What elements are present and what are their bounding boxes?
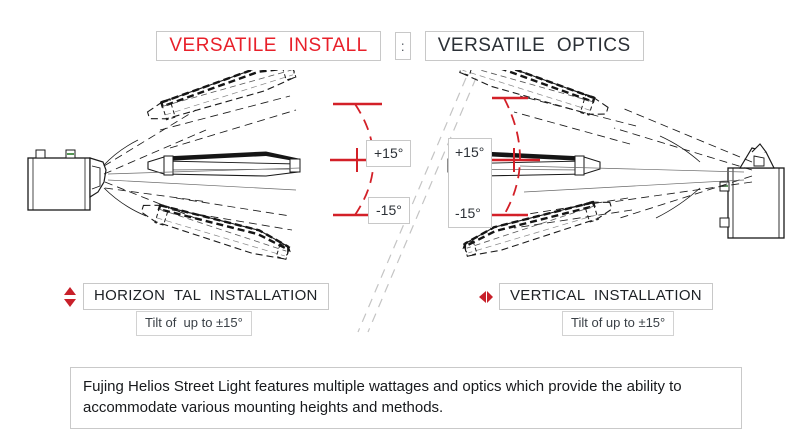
- title-versatile-optics: VERSATILE OPTICS: [425, 31, 644, 62]
- vertical-caption-row: VERTICAL INSTALLATION: [478, 283, 713, 310]
- arrows-horizontal-icon: [478, 286, 494, 308]
- left-angle-label-minus: -15°: [368, 197, 410, 224]
- vertical-installation-label: VERTICAL INSTALLATION: [499, 283, 713, 310]
- horizontal-installation-label: HORIZON TAL INSTALLATION: [83, 283, 329, 310]
- arrows-vertical-icon: [62, 286, 78, 308]
- horizontal-tilt-note: Tilt of up to ±15°: [136, 311, 252, 336]
- title-separator: :: [395, 32, 411, 60]
- right-angle-label-plus: +15°: [455, 145, 486, 159]
- title-versatile-install: VERSATILE INSTALL: [156, 31, 380, 62]
- vertical-install-drawing: [448, 70, 784, 260]
- product-description-note: Fujing Helios Street Light features mult…: [70, 367, 742, 429]
- left-angle-label-plus: +15°: [366, 140, 411, 167]
- diagram-canvas: VERSATILE INSTALL : VERSATILE OPTICS: [0, 0, 800, 443]
- vertical-tilt-note: Tilt of up to ±15°: [562, 311, 674, 336]
- installation-diagrams: [0, 70, 800, 265]
- horizontal-install-drawing: [28, 70, 385, 263]
- header-banner: VERSATILE INSTALL : VERSATILE OPTICS: [0, 30, 800, 62]
- right-angle-label-group: +15° -15°: [448, 138, 492, 228]
- right-angle-label-minus: -15°: [455, 206, 486, 220]
- horizontal-caption-row: HORIZON TAL INSTALLATION: [62, 283, 329, 310]
